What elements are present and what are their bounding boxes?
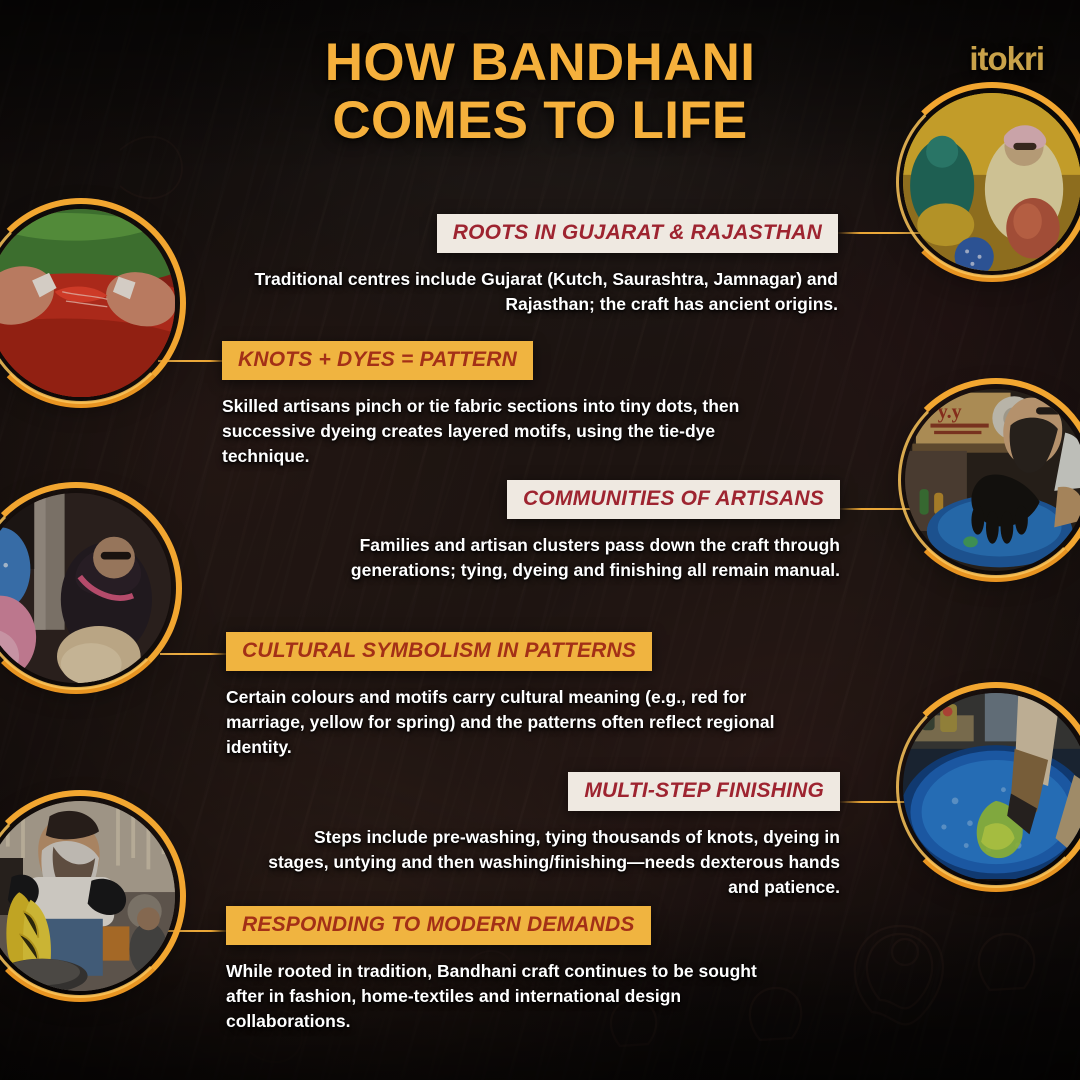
photo-lifting-yellow <box>0 790 186 1002</box>
photo-lifting-yellow-disc <box>0 801 175 991</box>
photo-indigo-vat <box>892 682 1080 892</box>
section-roots-body: Traditional centres include Gujarat (Kut… <box>254 267 838 317</box>
section-symbolism: CULTURAL SYMBOLISM IN PATTERNS Certain c… <box>226 632 786 760</box>
photo-dyer-blue-tub: y.y <box>894 378 1080 582</box>
section-knots-body: Skilled artisans pinch or tie fabric sec… <box>222 394 782 469</box>
section-symbolism-body: Certain colours and motifs carry cultura… <box>226 685 786 760</box>
section-knots: KNOTS + DYES = PATTERN Skilled artisans … <box>222 341 782 469</box>
photo-women-cream <box>0 482 182 694</box>
photo-hands-red-cloth-disc <box>0 209 175 397</box>
photo-dyer-blue-tub-image: y.y <box>905 389 1080 571</box>
section-modern-badge[interactable]: RESPONDING TO MODERN DEMANDS <box>226 906 651 945</box>
photo-women-cream-disc <box>0 493 171 683</box>
photo-hands-red-cloth-image <box>0 209 175 397</box>
section-finishing-badge[interactable]: MULTI-STEP FINISHING <box>568 772 840 811</box>
photo-hands-red-cloth <box>0 198 186 408</box>
section-modern: RESPONDING TO MODERN DEMANDS While roote… <box>226 906 786 1034</box>
section-finishing: MULTI-STEP FINISHING Steps include pre-w… <box>250 772 840 900</box>
photo-lifting-yellow-image <box>0 801 175 991</box>
photo-women-cream-image <box>0 493 171 683</box>
title-line-2: COMES TO LIFE <box>0 92 1080 150</box>
section-modern-body: While rooted in tradition, Bandhani craf… <box>226 959 786 1034</box>
infographic-poster: HOW BANDHANI COMES TO LIFE itokri <box>0 0 1080 1080</box>
section-roots: ROOTS IN GUJARAT & RAJASTHAN Traditional… <box>254 214 838 317</box>
section-knots-badge[interactable]: KNOTS + DYES = PATTERN <box>222 341 533 380</box>
section-communities-badge[interactable]: COMMUNITIES OF ARTISANS <box>507 480 840 519</box>
section-roots-badge[interactable]: ROOTS IN GUJARAT & RAJASTHAN <box>437 214 838 253</box>
itokri-logo[interactable]: itokri <box>969 40 1044 78</box>
logo-text: itokri <box>969 40 1044 77</box>
section-communities-body: Families and artisan clusters pass down … <box>250 533 840 583</box>
photo-dyer-blue-tub-disc: y.y <box>905 389 1080 571</box>
section-symbolism-badge[interactable]: CULTURAL SYMBOLISM IN PATTERNS <box>226 632 652 671</box>
photo-indigo-vat-disc <box>903 693 1080 881</box>
title-line-1: HOW BANDHANI <box>0 34 1080 92</box>
photo-indigo-vat-image <box>903 693 1080 879</box>
poster-title: HOW BANDHANI COMES TO LIFE <box>0 34 1080 151</box>
section-finishing-body: Steps include pre-washing, tying thousan… <box>250 825 840 900</box>
section-communities: COMMUNITIES OF ARTISANS Families and art… <box>250 480 840 583</box>
